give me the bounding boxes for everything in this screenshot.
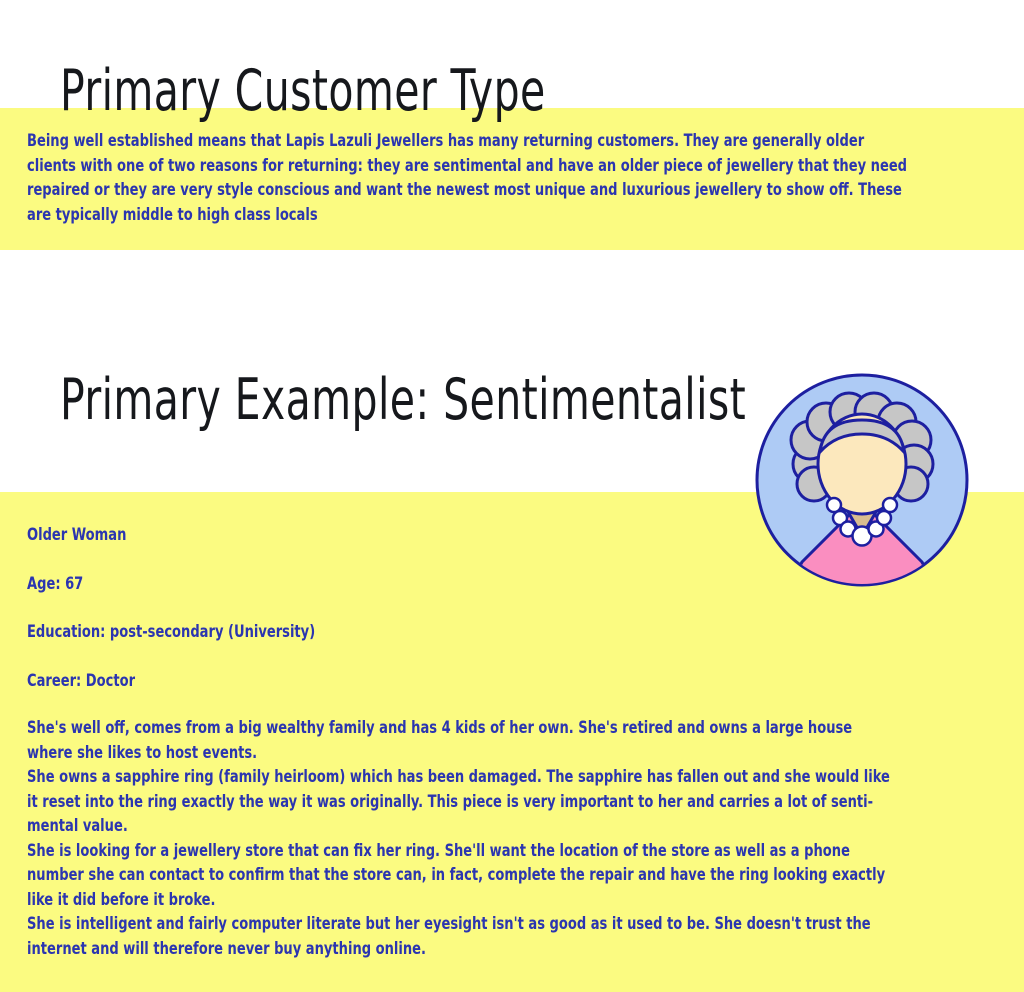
persona-fact-education: Education: post-secondary (University): [27, 622, 315, 642]
story-line: She is looking for a jewellery store tha…: [27, 839, 1024, 864]
story-line: like it did before it broke.: [27, 888, 1024, 913]
intro-line: are typically middle to high class local…: [27, 203, 1024, 228]
story-line: number she can contact to confirm that t…: [27, 863, 1024, 888]
intro-line: repaired or they are very style consciou…: [27, 178, 1024, 203]
story-line: She owns a sapphire ring (family heirloo…: [27, 765, 1024, 790]
persona-fact-age: Age: 67: [27, 574, 83, 594]
story-line: mental value.: [27, 814, 1024, 839]
story-line: where she likes to host events.: [27, 741, 1024, 766]
persona-story-paragraph: She's well off, comes from a big wealthy…: [27, 716, 1024, 961]
story-line: She's well off, comes from a big wealthy…: [27, 716, 1024, 741]
story-line: internet and will therefore never buy an…: [27, 937, 1024, 962]
persona-document-page: Primary Customer Type Being well establi…: [0, 0, 1024, 992]
persona-fact-name: Older Woman: [27, 525, 126, 545]
page-title-primary-example: Primary Example: Sentimentalist: [60, 369, 746, 431]
older-woman-avatar: [754, 372, 970, 588]
page-title-primary-customer-type: Primary Customer Type: [60, 60, 546, 122]
intro-line: Being well established means that Lapis …: [27, 129, 1024, 154]
intro-line: clients with one of two reasons for retu…: [27, 154, 1024, 179]
story-line: it reset into the ring exactly the way i…: [27, 790, 1024, 815]
story-line: She is intelligent and fairly computer l…: [27, 912, 1024, 937]
persona-fact-career: Career: Doctor: [27, 671, 135, 691]
intro-paragraph: Being well established means that Lapis …: [27, 129, 1024, 227]
